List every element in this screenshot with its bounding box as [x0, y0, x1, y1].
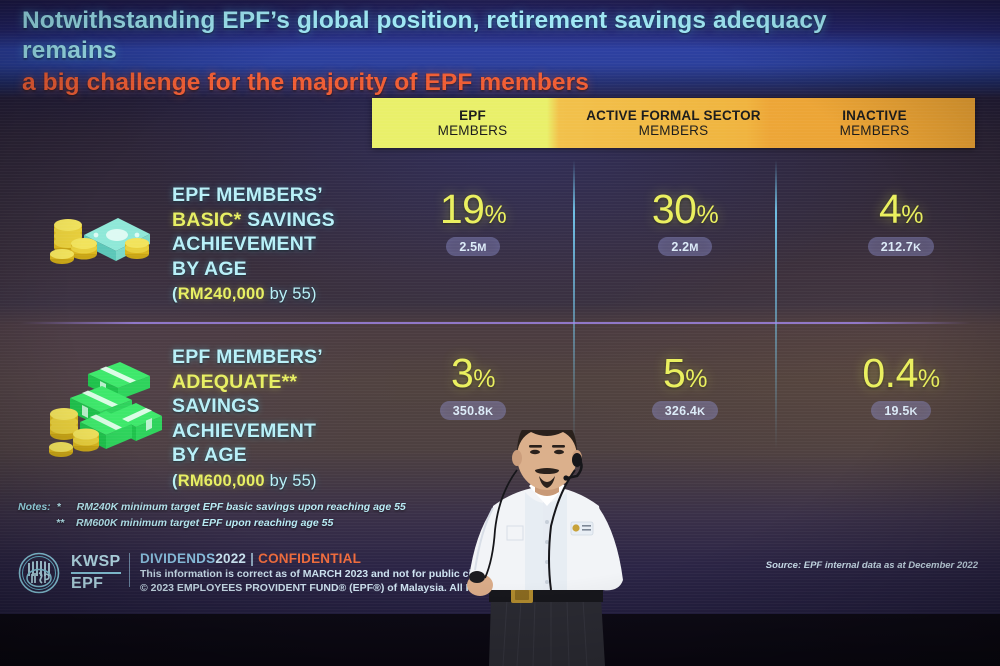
source-note: Source: EPF internal data as at December… — [766, 560, 978, 571]
column-header-inactive-members: INACTIVE MEMBERS — [774, 98, 975, 148]
metric-percent-unit: % — [473, 365, 495, 393]
row-label-line-1: EPF MEMBERS’ — [172, 183, 335, 208]
metric-count-value: 350.8 — [453, 404, 485, 418]
kwsp-epf-logo: KWSP EPF — [16, 552, 121, 594]
footer-divider — [129, 553, 130, 587]
row-label-line-1: EPF MEMBERS’ — [172, 345, 323, 370]
money-note-coins-icon — [38, 190, 156, 270]
metric-count-value: 2.5 — [459, 240, 477, 254]
notes-label: Notes: — [18, 500, 51, 516]
metric-count-badge: 2.5M — [446, 237, 499, 256]
metric-percent: 4% — [879, 189, 923, 230]
notes-marker: * — [57, 500, 71, 516]
column-header-subtitle: MEMBERS — [639, 123, 709, 138]
row-label-line-2: BASIC* SAVINGS — [172, 208, 335, 233]
metric-count-unit: M — [689, 242, 698, 254]
row-label-line-2-rest: SAVINGS — [241, 209, 334, 231]
metric-count-value: 2.2 — [671, 240, 689, 254]
row-label-line-4: BY AGE — [172, 257, 335, 282]
page-title: Notwithstanding EPF’s global position, r… — [22, 6, 922, 98]
metric-basic-active-formal-sector-members: 30% 2.2M — [610, 189, 760, 256]
row-label-line-3: ACHIEVEMENT — [172, 232, 335, 257]
row-label-line-4: BY AGE — [172, 443, 323, 468]
metric-percent-value: 0.4 — [862, 350, 918, 396]
metric-percent-unit: % — [696, 201, 718, 229]
kwsp-rule — [71, 572, 121, 574]
notes-text: RM600K minimum target EPF upon reaching … — [76, 516, 333, 532]
metric-count-value: 212.7 — [881, 240, 913, 254]
metric-basic-inactive-members: 4% 212.7K — [826, 189, 976, 256]
kwsp-wordmark: KWSP EPF — [71, 554, 121, 591]
row-label-highlight: BASIC* — [172, 209, 241, 231]
metric-count-badge: 212.7K — [868, 237, 934, 256]
row-label-adequate-savings: EPF MEMBERS’ ADEQUATE** SAVINGS ACHIEVEM… — [172, 345, 323, 492]
row-target-rest: by 55) — [265, 472, 317, 490]
metric-count-value: 326.4 — [665, 404, 697, 418]
metric-percent-value: 19 — [440, 186, 485, 232]
row-label-line-3: ACHIEVEMENT — [172, 419, 323, 444]
metric-count-badge: 2.2M — [658, 237, 711, 256]
metric-percent: 5% — [663, 353, 707, 394]
metric-percent-unit: % — [918, 365, 940, 393]
metric-count-unit: K — [913, 242, 921, 254]
notes-row-2: ** RM600K minimum target EPF upon reachi… — [18, 516, 406, 532]
screenshot-stage: Notwithstanding EPF’s global position, r… — [0, 0, 1000, 666]
metric-percent: 3% — [451, 353, 495, 394]
row-label-basic-savings: EPF MEMBERS’ BASIC* SAVINGS ACHIEVEMENT … — [172, 183, 335, 305]
notes-marker: ** — [56, 516, 70, 532]
metric-count-unit: K — [909, 406, 917, 418]
epf-label: EPF — [71, 576, 121, 592]
deck-separator: | — [250, 551, 254, 566]
row-divider — [20, 322, 972, 324]
presenter-photo — [455, 430, 635, 666]
row-target-rest: by 55) — [265, 285, 317, 303]
metric-percent-unit: % — [685, 365, 707, 393]
title-line-2: a big challenge for the majority of EPF … — [22, 68, 922, 98]
metric-count-unit: K — [697, 406, 705, 418]
metric-adequate-inactive-members: 0.4% 19.5K — [826, 353, 976, 420]
metric-count-unit: M — [477, 242, 486, 254]
metric-percent-value: 4 — [879, 186, 901, 232]
notes-row-1: Notes: * RM240K minimum target EPF basic… — [18, 500, 406, 516]
classification-label: CONFIDENTIAL — [258, 551, 361, 566]
metric-percent-value: 5 — [663, 350, 685, 396]
metric-percent: 19% — [440, 189, 506, 230]
row-label-line-2: ADEQUATE** — [172, 370, 323, 395]
source-text: EPF internal data as at December 2022 — [801, 560, 978, 571]
deck-year: 2022 — [215, 551, 246, 566]
metric-basic-epf-members: 19% 2.5M — [398, 189, 548, 256]
row-target-amount: RM240,000 — [178, 285, 265, 303]
column-header-subtitle: MEMBERS — [438, 123, 508, 138]
row-target: (RM240,000 by 55) — [172, 284, 335, 305]
notes-block: Notes: * RM240K minimum target EPF basic… — [18, 500, 406, 532]
metric-count-unit: K — [485, 406, 493, 418]
column-header-title: ACTIVE FORMAL SECTOR — [586, 108, 761, 123]
metric-count-value: 19.5 — [884, 404, 909, 418]
row-label-line-2b: SAVINGS — [172, 394, 323, 419]
row-target: (RM600,000 by 55) — [172, 471, 323, 492]
column-header-subtitle: MEMBERS — [840, 123, 910, 138]
notes-text: RM240K minimum target EPF basic savings … — [77, 500, 406, 516]
metric-count-badge: 350.8K — [440, 401, 506, 420]
metric-percent-value: 3 — [451, 350, 473, 396]
deck-name: DIVIDENDS — [140, 551, 215, 566]
source-label: Source: — [766, 560, 801, 571]
metric-percent-value: 30 — [652, 186, 697, 232]
metric-adequate-active-formal-sector-members: 5% 326.4K — [610, 353, 760, 420]
table-header-band: EPF MEMBERS ACTIVE FORMAL SECTOR MEMBERS… — [372, 98, 975, 148]
column-header-title: EPF — [459, 108, 486, 123]
column-header-title: INACTIVE — [842, 108, 907, 123]
metric-percent-unit: % — [901, 201, 923, 229]
metric-percent: 0.4% — [862, 353, 939, 394]
metric-adequate-epf-members: 3% 350.8K — [398, 353, 548, 420]
kwsp-label: KWSP — [71, 554, 121, 570]
column-divider-2 — [775, 160, 777, 450]
metric-percent: 30% — [652, 189, 718, 230]
title-line-1: Notwithstanding EPF’s global position, r… — [22, 6, 922, 66]
row-label-highlight: ADEQUATE** — [172, 371, 297, 393]
money-stacks-icon — [36, 358, 166, 464]
row-target-amount: RM600,000 — [178, 472, 265, 490]
metric-percent-unit: % — [484, 201, 506, 229]
column-divider-1 — [573, 160, 575, 450]
kwsp-emblem-icon — [16, 552, 62, 594]
column-header-epf-members: EPF MEMBERS — [372, 98, 573, 148]
metric-count-badge: 326.4K — [652, 401, 718, 420]
column-header-active-formal-sector-members: ACTIVE FORMAL SECTOR MEMBERS — [573, 98, 774, 148]
metric-count-badge: 19.5K — [871, 401, 930, 420]
